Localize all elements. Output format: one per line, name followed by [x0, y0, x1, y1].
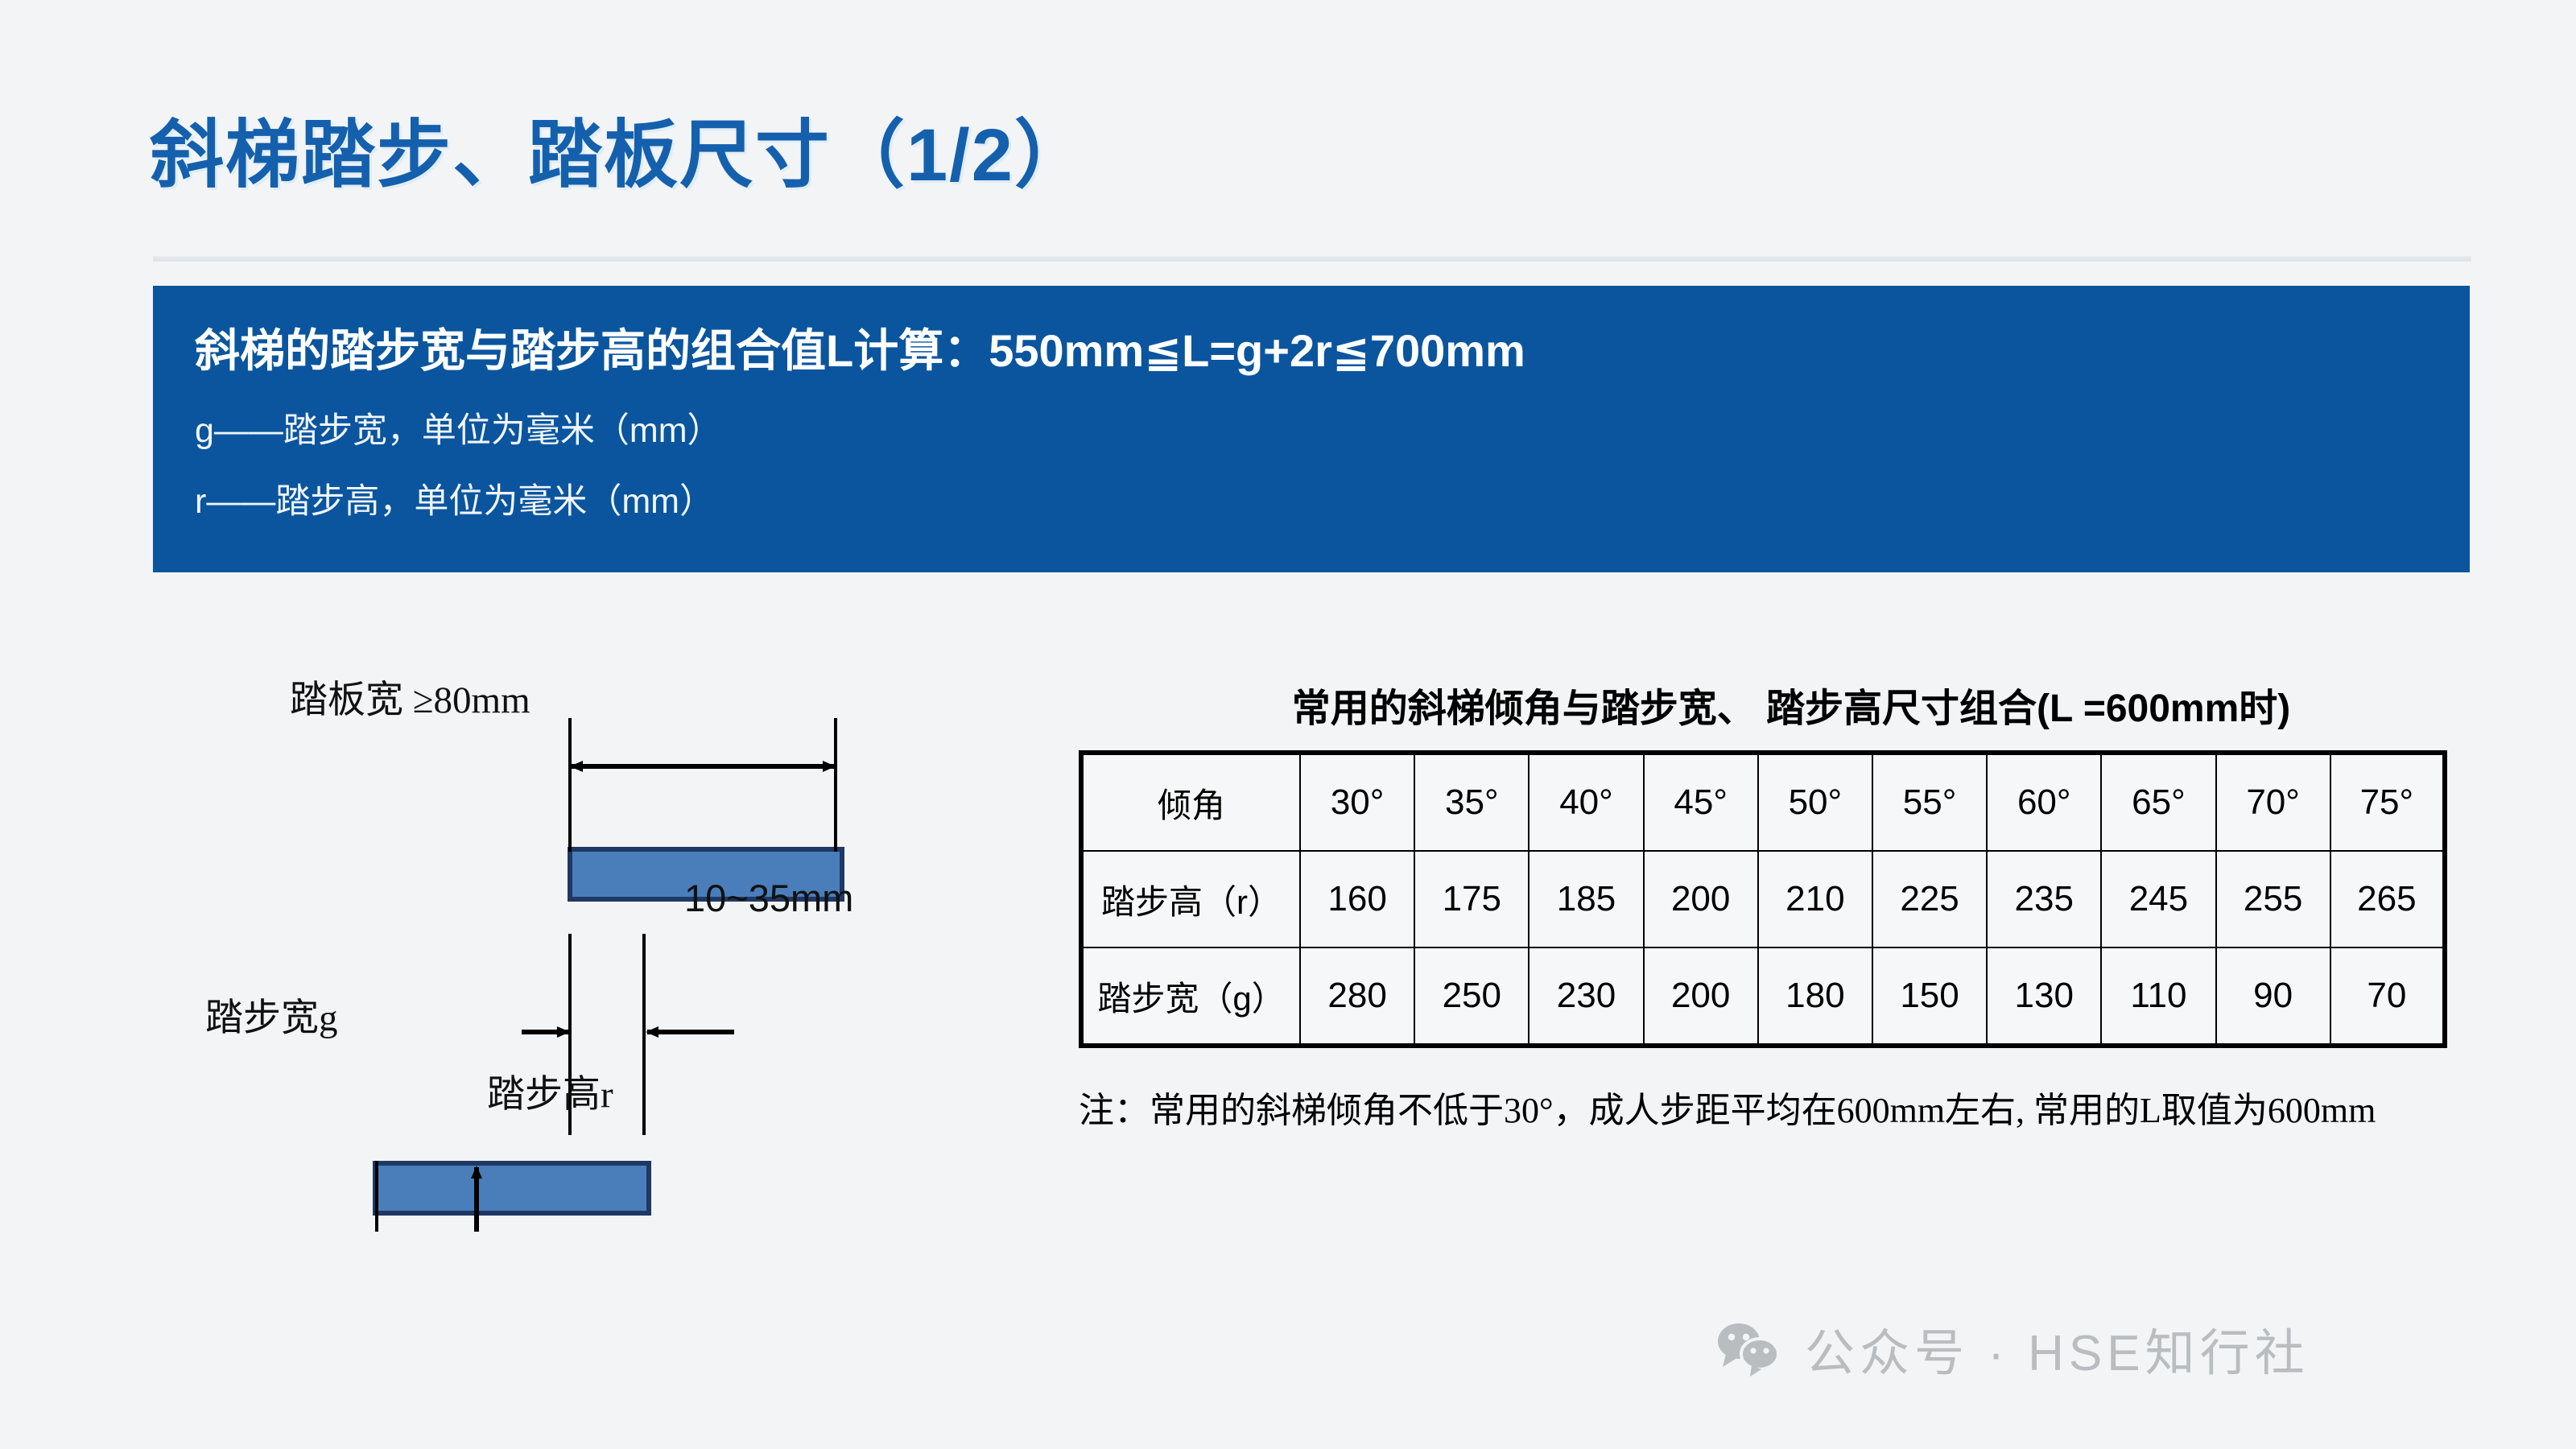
- table-cell: 235: [1987, 851, 2101, 947]
- label-tread-width: 踏板宽 ≥80mm: [290, 668, 530, 724]
- table-cell: 90: [2216, 947, 2330, 1046]
- label-going-g: 踏步宽g: [205, 986, 338, 1042]
- table-cell: 35°: [1414, 753, 1529, 851]
- table-cell: 255: [2216, 851, 2330, 947]
- table-cell: 200: [1644, 947, 1758, 1046]
- table-title: 常用的斜梯倾角与踏步宽、 踏步高尺寸组合(L =600mm时): [1103, 676, 2479, 733]
- tread-bar-middle: [375, 1163, 649, 1213]
- angle-dimension-table: 倾角 30° 35° 40° 45° 50° 55° 60° 65° 70° 7…: [1079, 750, 2447, 1048]
- table-cell: 250: [1414, 947, 1529, 1046]
- table-cell: 55°: [1872, 753, 1987, 851]
- table-cell: 40°: [1529, 753, 1643, 851]
- wechat-icon: [1715, 1320, 1784, 1377]
- table-cell: 150: [1872, 947, 1987, 1046]
- table-cell: 245: [2101, 851, 2215, 947]
- formula-banner: 斜梯的踏步宽与踏步高的组合值L计算：550mm≦L=g+2r≦700mm g——…: [153, 286, 2470, 572]
- table-cell: 175: [1414, 851, 1529, 947]
- title-divider: [153, 256, 2471, 262]
- table-cell: 60°: [1987, 753, 2101, 851]
- table-cell: 70: [2330, 947, 2445, 1046]
- label-nosing-overhang: 10~35mm: [684, 876, 853, 920]
- table-cell: 50°: [1758, 753, 1872, 851]
- formula-line: 斜梯的踏步宽与踏步高的组合值L计算：550mm≦L=g+2r≦700mm: [195, 328, 2470, 375]
- table-cell: 160: [1300, 851, 1414, 947]
- table-row: 踏步宽（g） 280 250 230 200 180 150 130 110 9…: [1081, 947, 2445, 1046]
- table-cell: 65°: [2101, 753, 2215, 851]
- legend-r: r——踏步高，单位为毫米（mm）: [195, 478, 2470, 525]
- table-cell: 110: [2101, 947, 2215, 1046]
- table-cell: 180: [1758, 947, 1872, 1046]
- table-cell: 225: [1872, 851, 1987, 947]
- page-title: 斜梯踏步、踏板尺寸（1/2）: [150, 95, 1090, 202]
- spec-table-block: 常用的斜梯倾角与踏步宽、 踏步高尺寸组合(L =600mm时) 倾角 30° 3…: [1079, 676, 2479, 1134]
- table-note: 注：常用的斜梯倾角不低于30°，成人步距平均在600mm左右, 常用的L取值为6…: [1079, 1087, 2463, 1134]
- watermark-text: 公众号 · HSE知行社: [1805, 1312, 2310, 1385]
- table-cell: 200: [1644, 851, 1758, 947]
- table-cell: 75°: [2330, 753, 2445, 851]
- table-cell: 130: [1987, 947, 2101, 1046]
- stair-step-diagram: 踏板宽 ≥80mm 10~35mm 踏步宽g 踏步高r: [121, 668, 1030, 1232]
- table-cell: 70°: [2216, 753, 2330, 851]
- table-cell: 45°: [1644, 753, 1758, 851]
- table-row-header: 踏步高（r）: [1081, 851, 1300, 947]
- table-row-header: 踏步宽（g）: [1081, 947, 1300, 1046]
- slide-canvas: 斜梯踏步、踏板尺寸（1/2） 斜梯的踏步宽与踏步高的组合值L计算：550mm≦L…: [0, 0, 2576, 1449]
- table-row: 倾角 30° 35° 40° 45° 50° 55° 60° 65° 70° 7…: [1081, 753, 2445, 851]
- table-cell: 265: [2330, 851, 2445, 947]
- watermark: 公众号 · HSE知行社: [1715, 1312, 2310, 1385]
- table-cell: 210: [1758, 851, 1872, 947]
- table-cell: 185: [1529, 851, 1643, 947]
- table-row: 踏步高（r） 160 175 185 200 210 225 235 245 2…: [1081, 851, 2445, 947]
- label-rise-r: 踏步高r: [487, 1063, 613, 1118]
- table-cell: 30°: [1300, 753, 1414, 851]
- table-cell: 280: [1300, 947, 1414, 1046]
- legend-g: g——踏步宽，单位为毫米（mm）: [195, 407, 2470, 454]
- stair-diagram-svg: [121, 668, 1030, 1232]
- table-cell: 230: [1529, 947, 1643, 1046]
- table-row-header: 倾角: [1081, 753, 1300, 851]
